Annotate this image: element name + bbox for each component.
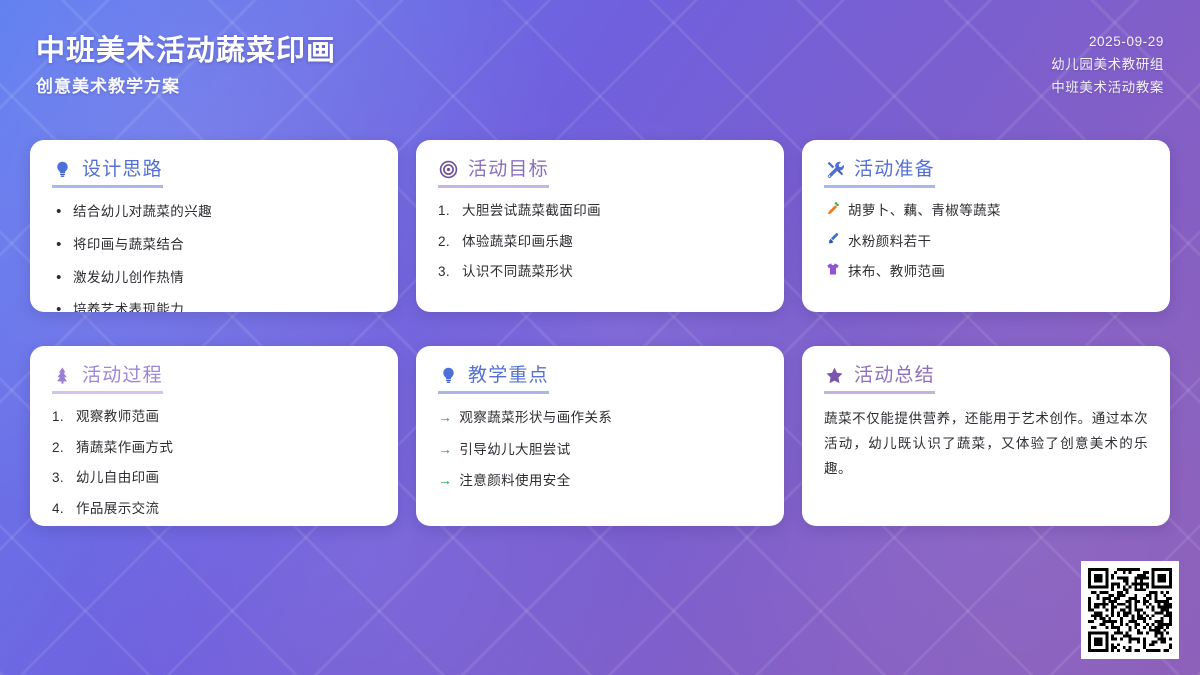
list-item: 抹布、教师范画 bbox=[824, 262, 1148, 282]
list-item-label: 猜蔬菜作画方式 bbox=[76, 438, 376, 458]
tools-icon bbox=[824, 159, 845, 180]
card-title: 活动总结 bbox=[854, 366, 935, 385]
card-activity-materials: 活动准备胡萝卜、藕、青椒等蔬菜水粉颜料若干抹布、教师范画 bbox=[802, 140, 1170, 312]
page-subtitle: 创意美术教学方案 bbox=[36, 77, 336, 97]
card-activity-summary: 活动总结蔬菜不仅能提供营养，还能用于艺术创作。通过本次活动，幼儿既认识了蔬菜，又… bbox=[802, 346, 1170, 526]
target-icon bbox=[438, 159, 459, 180]
list-item: •培养艺术表现能力 bbox=[52, 299, 376, 312]
header-title-block: 中班美术活动蔬菜印画 创意美术教学方案 bbox=[36, 31, 336, 98]
qr-code[interactable] bbox=[1081, 561, 1179, 659]
bullet-dot-icon: • bbox=[52, 201, 66, 223]
bullet-dot-icon: • bbox=[52, 234, 66, 256]
list-item: •结合幼儿对蔬菜的兴趣 bbox=[52, 201, 376, 223]
card-item-list: 1.观察教师范画2.猜蔬菜作画方式3.幼儿自由印画4.作品展示交流 bbox=[52, 407, 376, 518]
list-item: 3.认识不同蔬菜形状 bbox=[438, 262, 762, 282]
header-meta-block: 2025-09-29 幼儿园美术教研组 中班美术活动教案 bbox=[1051, 31, 1164, 98]
list-item: •将印画与蔬菜结合 bbox=[52, 234, 376, 256]
list-item-label: 幼儿自由印画 bbox=[76, 468, 376, 488]
list-item-label: 认识不同蔬菜形状 bbox=[462, 262, 762, 282]
list-item: →观察蔬菜形状与画作关系 bbox=[438, 407, 762, 428]
card-header: 设计思路 bbox=[52, 159, 163, 188]
card-title: 活动目标 bbox=[468, 160, 549, 179]
list-number: 1. bbox=[438, 201, 455, 221]
list-item-label: 结合幼儿对蔬菜的兴趣 bbox=[73, 202, 376, 222]
list-item-label: 观察蔬菜形状与画作关系 bbox=[459, 408, 762, 428]
card-header: 活动过程 bbox=[52, 365, 163, 394]
slide-header: 中班美术活动蔬菜印画 创意美术教学方案 2025-09-29 幼儿园美术教研组 … bbox=[0, 0, 1200, 128]
card-title: 设计思路 bbox=[82, 160, 163, 179]
meta-date: 2025-09-29 bbox=[1089, 33, 1164, 51]
bullet-dot-icon: • bbox=[52, 267, 66, 289]
list-item: 胡萝卜、藕、青椒等蔬菜 bbox=[824, 201, 1148, 221]
list-number: 2. bbox=[438, 232, 455, 252]
bullet-dot-icon: • bbox=[52, 299, 66, 312]
card-item-list: •结合幼儿对蔬菜的兴趣•将印画与蔬菜结合•激发幼儿创作热情•培养艺术表现能力 bbox=[52, 201, 376, 312]
list-item-label: 观察教师范画 bbox=[76, 407, 376, 427]
card-design-idea: 设计思路•结合幼儿对蔬菜的兴趣•将印画与蔬菜结合•激发幼儿创作热情•培养艺术表现… bbox=[30, 140, 398, 312]
list-number: 3. bbox=[52, 468, 69, 488]
star-icon bbox=[824, 365, 845, 386]
list-item: 2.猜蔬菜作画方式 bbox=[52, 438, 376, 458]
arrow-right-icon: → bbox=[438, 407, 452, 427]
list-number: 4. bbox=[52, 499, 69, 519]
card-activity-goals: 活动目标1.大胆尝试蔬菜截面印画2.体验蔬菜印画乐趣3.认识不同蔬菜形状 bbox=[416, 140, 784, 312]
card-paragraph: 蔬菜不仅能提供营养，还能用于艺术创作。通过本次活动，幼儿既认识了蔬菜，又体验了创… bbox=[824, 407, 1148, 482]
list-item-label: 注意颜料使用安全 bbox=[459, 471, 762, 491]
card-teaching-focus: 教学重点→观察蔬菜形状与画作关系→引导幼儿大胆尝试→注意颜料使用安全 bbox=[416, 346, 784, 526]
meta-organization: 幼儿园美术教研组 bbox=[1051, 56, 1164, 74]
card-item-list: 胡萝卜、藕、青椒等蔬菜水粉颜料若干抹布、教师范画 bbox=[824, 201, 1148, 282]
list-number: 3. bbox=[438, 262, 455, 282]
card-item-list: 1.大胆尝试蔬菜截面印画2.体验蔬菜印画乐趣3.认识不同蔬菜形状 bbox=[438, 201, 762, 282]
list-item-label: 水粉颜料若干 bbox=[848, 232, 1148, 252]
qr-code-image bbox=[1088, 568, 1172, 652]
card-item-list: →观察蔬菜形状与画作关系→引导幼儿大胆尝试→注意颜料使用安全 bbox=[438, 407, 762, 491]
card-activity-process: 活动过程1.观察教师范画2.猜蔬菜作画方式3.幼儿自由印画4.作品展示交流 bbox=[30, 346, 398, 526]
list-item: 3.幼儿自由印画 bbox=[52, 468, 376, 488]
lightbulb-icon bbox=[52, 159, 73, 180]
list-item-label: 大胆尝试蔬菜截面印画 bbox=[462, 201, 762, 221]
list-item: 2.体验蔬菜印画乐趣 bbox=[438, 232, 762, 252]
card-title: 活动准备 bbox=[854, 160, 935, 179]
arrow-right-icon: → bbox=[438, 470, 452, 490]
card-grid: 设计思路•结合幼儿对蔬菜的兴趣•将印画与蔬菜结合•激发幼儿创作热情•培养艺术表现… bbox=[30, 140, 1170, 526]
page-title: 中班美术活动蔬菜印画 bbox=[36, 35, 336, 68]
card-title: 活动过程 bbox=[82, 366, 163, 385]
list-item: 1.大胆尝试蔬菜截面印画 bbox=[438, 201, 762, 221]
list-item: →注意颜料使用安全 bbox=[438, 470, 762, 491]
list-item-label: 胡萝卜、藕、青椒等蔬菜 bbox=[848, 201, 1148, 221]
list-item-label: 作品展示交流 bbox=[76, 499, 376, 519]
card-header: 教学重点 bbox=[438, 365, 549, 394]
list-item: •激发幼儿创作热情 bbox=[52, 267, 376, 289]
list-item: 1.观察教师范画 bbox=[52, 407, 376, 427]
card-header: 活动准备 bbox=[824, 159, 935, 188]
arrow-right-icon: → bbox=[438, 439, 452, 459]
list-item-label: 抹布、教师范画 bbox=[848, 262, 1148, 282]
list-item-label: 将印画与蔬菜结合 bbox=[73, 235, 376, 255]
card-header: 活动总结 bbox=[824, 365, 935, 394]
tree-icon bbox=[52, 365, 73, 386]
meta-doc-type: 中班美术活动教案 bbox=[1051, 79, 1164, 97]
card-header: 活动目标 bbox=[438, 159, 549, 188]
list-item: 4.作品展示交流 bbox=[52, 499, 376, 519]
carrot-icon bbox=[824, 201, 841, 215]
list-item-label: 引导幼儿大胆尝试 bbox=[459, 440, 762, 460]
card-title: 教学重点 bbox=[468, 366, 549, 385]
list-item: →引导幼儿大胆尝试 bbox=[438, 439, 762, 460]
list-item-label: 体验蔬菜印画乐趣 bbox=[462, 232, 762, 252]
list-number: 1. bbox=[52, 407, 69, 427]
lightbulb-icon bbox=[438, 365, 459, 386]
paintbrush-icon bbox=[824, 232, 841, 246]
list-number: 2. bbox=[52, 438, 69, 458]
tshirt-icon bbox=[824, 262, 841, 276]
list-item-label: 激发幼儿创作热情 bbox=[73, 268, 376, 288]
list-item: 水粉颜料若干 bbox=[824, 232, 1148, 252]
list-item-label: 培养艺术表现能力 bbox=[73, 300, 376, 312]
